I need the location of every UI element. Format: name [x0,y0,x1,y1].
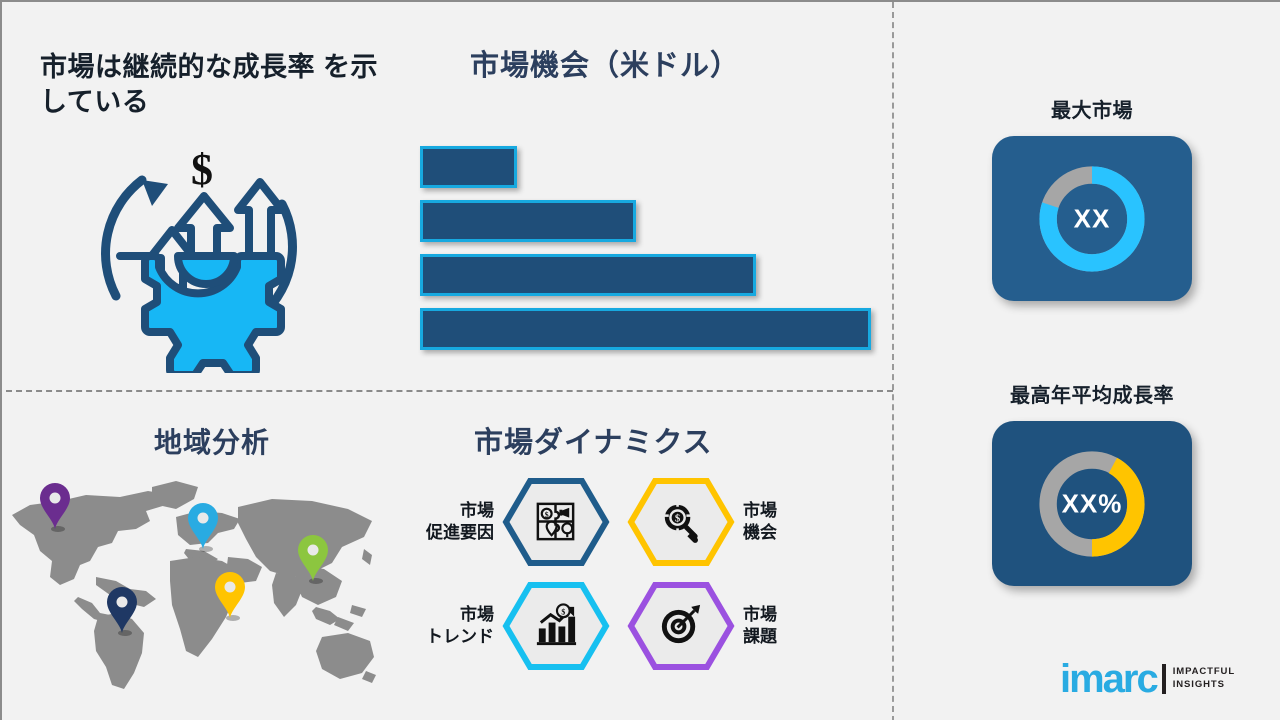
dynamics-item-4[interactable]: 市場 課題 [627,580,847,672]
dynamics-item-1[interactable]: 市場 促進要因$ [402,476,622,568]
growth-gear-icon: $ [74,128,324,373]
dynamics-item-label: 市場 トレンド [402,604,494,648]
bar-4 [420,308,871,350]
dynamics-item-label: 市場 機会 [743,500,835,544]
bar-row [420,254,880,296]
dynamics-hexagon [627,581,735,671]
bar-1 [420,146,517,188]
logo-wordmark: imarc [1060,659,1157,699]
kpi-card: XX [992,136,1192,301]
bar-row [420,146,880,188]
dynamics-hexagon: $ [627,477,735,567]
imarc-logo: imarc IMPACTFUL INSIGHTS [1060,654,1235,704]
kpi-largest-market: 最大市場 XX [977,94,1207,301]
dynamics-item-3[interactable]: 市場 トレンド$ [402,580,622,672]
bar-row [420,200,880,242]
kpi-card: XX% [992,421,1192,586]
svg-text:$: $ [545,511,549,520]
dynamics-item-label: 市場 課題 [743,604,835,648]
bar-2 [420,200,636,242]
market-dynamics-group: 市場 促進要因$$市場 機会市場 トレンド$市場 課題 [402,476,842,672]
kpi-title: 最大市場 [977,94,1207,123]
kpi-value: XX [992,203,1192,234]
dynamics-hexagon: $ [502,581,610,671]
horizontal-divider [6,390,893,392]
world-map [0,457,400,692]
slide-canvas: 市場は継続的な成長率 を示している [0,0,1280,720]
logo-tagline-line1: IMPACTFUL [1173,666,1235,679]
logo-tagline-line2: INSIGHTS [1173,679,1235,692]
dynamics-item-2[interactable]: $市場 機会 [627,476,847,568]
page-title-growth: 市場は継続的な成長率 を示している [40,50,390,119]
page-title-dynamics: 市場ダイナミクス [474,426,713,461]
kpi-value: XX% [992,488,1192,519]
bar-row [420,308,880,350]
dollar-symbol: $ [191,145,213,194]
page-title-regional: 地域分析 [154,426,270,460]
page-title-opportunity: 市場機会（米ドル） [470,49,740,84]
dynamics-hexagon: $ [502,477,610,567]
bar-3 [420,254,756,296]
kpi-title: 最高年平均成長率 [977,379,1207,408]
svg-text:$: $ [561,608,565,617]
dynamics-item-label: 市場 促進要因 [402,500,494,544]
market-opportunity-bar-chart [420,146,880,351]
logo-divider [1162,664,1166,694]
svg-text:$: $ [675,513,681,525]
kpi-highest-cagr: 最高年平均成長率 XX% [977,379,1207,586]
vertical-divider [892,2,894,720]
